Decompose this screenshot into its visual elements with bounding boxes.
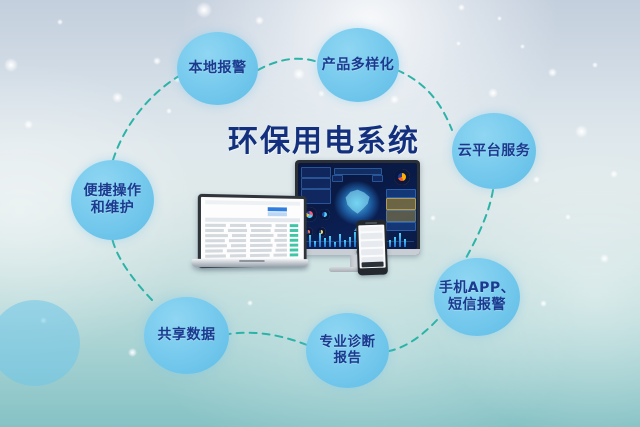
poster-canvas: 环保用电系统 本地报警 产品多样化 云平台服务 手机APP、 短信报警 专业诊断… [0, 0, 640, 427]
node-shared-data[interactable]: 共享数据 [144, 297, 229, 374]
node-product-variety-label: 产品多样化 [322, 57, 395, 74]
device-cluster [185, 160, 435, 310]
node-app-sms[interactable]: 手机APP、 短信报警 [434, 258, 520, 336]
page-title: 环保用电系统 [228, 116, 420, 160]
node-local-alarm-label: 本地报警 [189, 60, 247, 77]
node-shared-data-label: 共享数据 [158, 327, 216, 344]
node-local-alarm[interactable]: 本地报警 [177, 32, 258, 105]
node-diagnosis-report[interactable]: 专业诊断 报告 [306, 313, 389, 388]
laptop [193, 195, 311, 280]
node-cloud-service-label: 云平台服务 [458, 143, 531, 160]
phone-screen [358, 225, 385, 269]
node-cloud-service[interactable]: 云平台服务 [452, 113, 536, 189]
node-easy-ops-label: 便捷操作 和维护 [84, 183, 142, 216]
china-map-visual [334, 181, 380, 225]
node-app-sms-label: 手机APP、 短信报警 [439, 280, 515, 313]
node-easy-ops[interactable]: 便捷操作 和维护 [71, 160, 154, 240]
laptop-lid [198, 194, 307, 268]
smartphone [356, 219, 388, 275]
laptop-screen [201, 197, 304, 265]
phone-navbar [362, 262, 384, 268]
laptop-base [192, 259, 309, 267]
node-product-variety[interactable]: 产品多样化 [317, 28, 399, 102]
node-diagnosis-report-label: 专业诊断 报告 [320, 335, 376, 367]
